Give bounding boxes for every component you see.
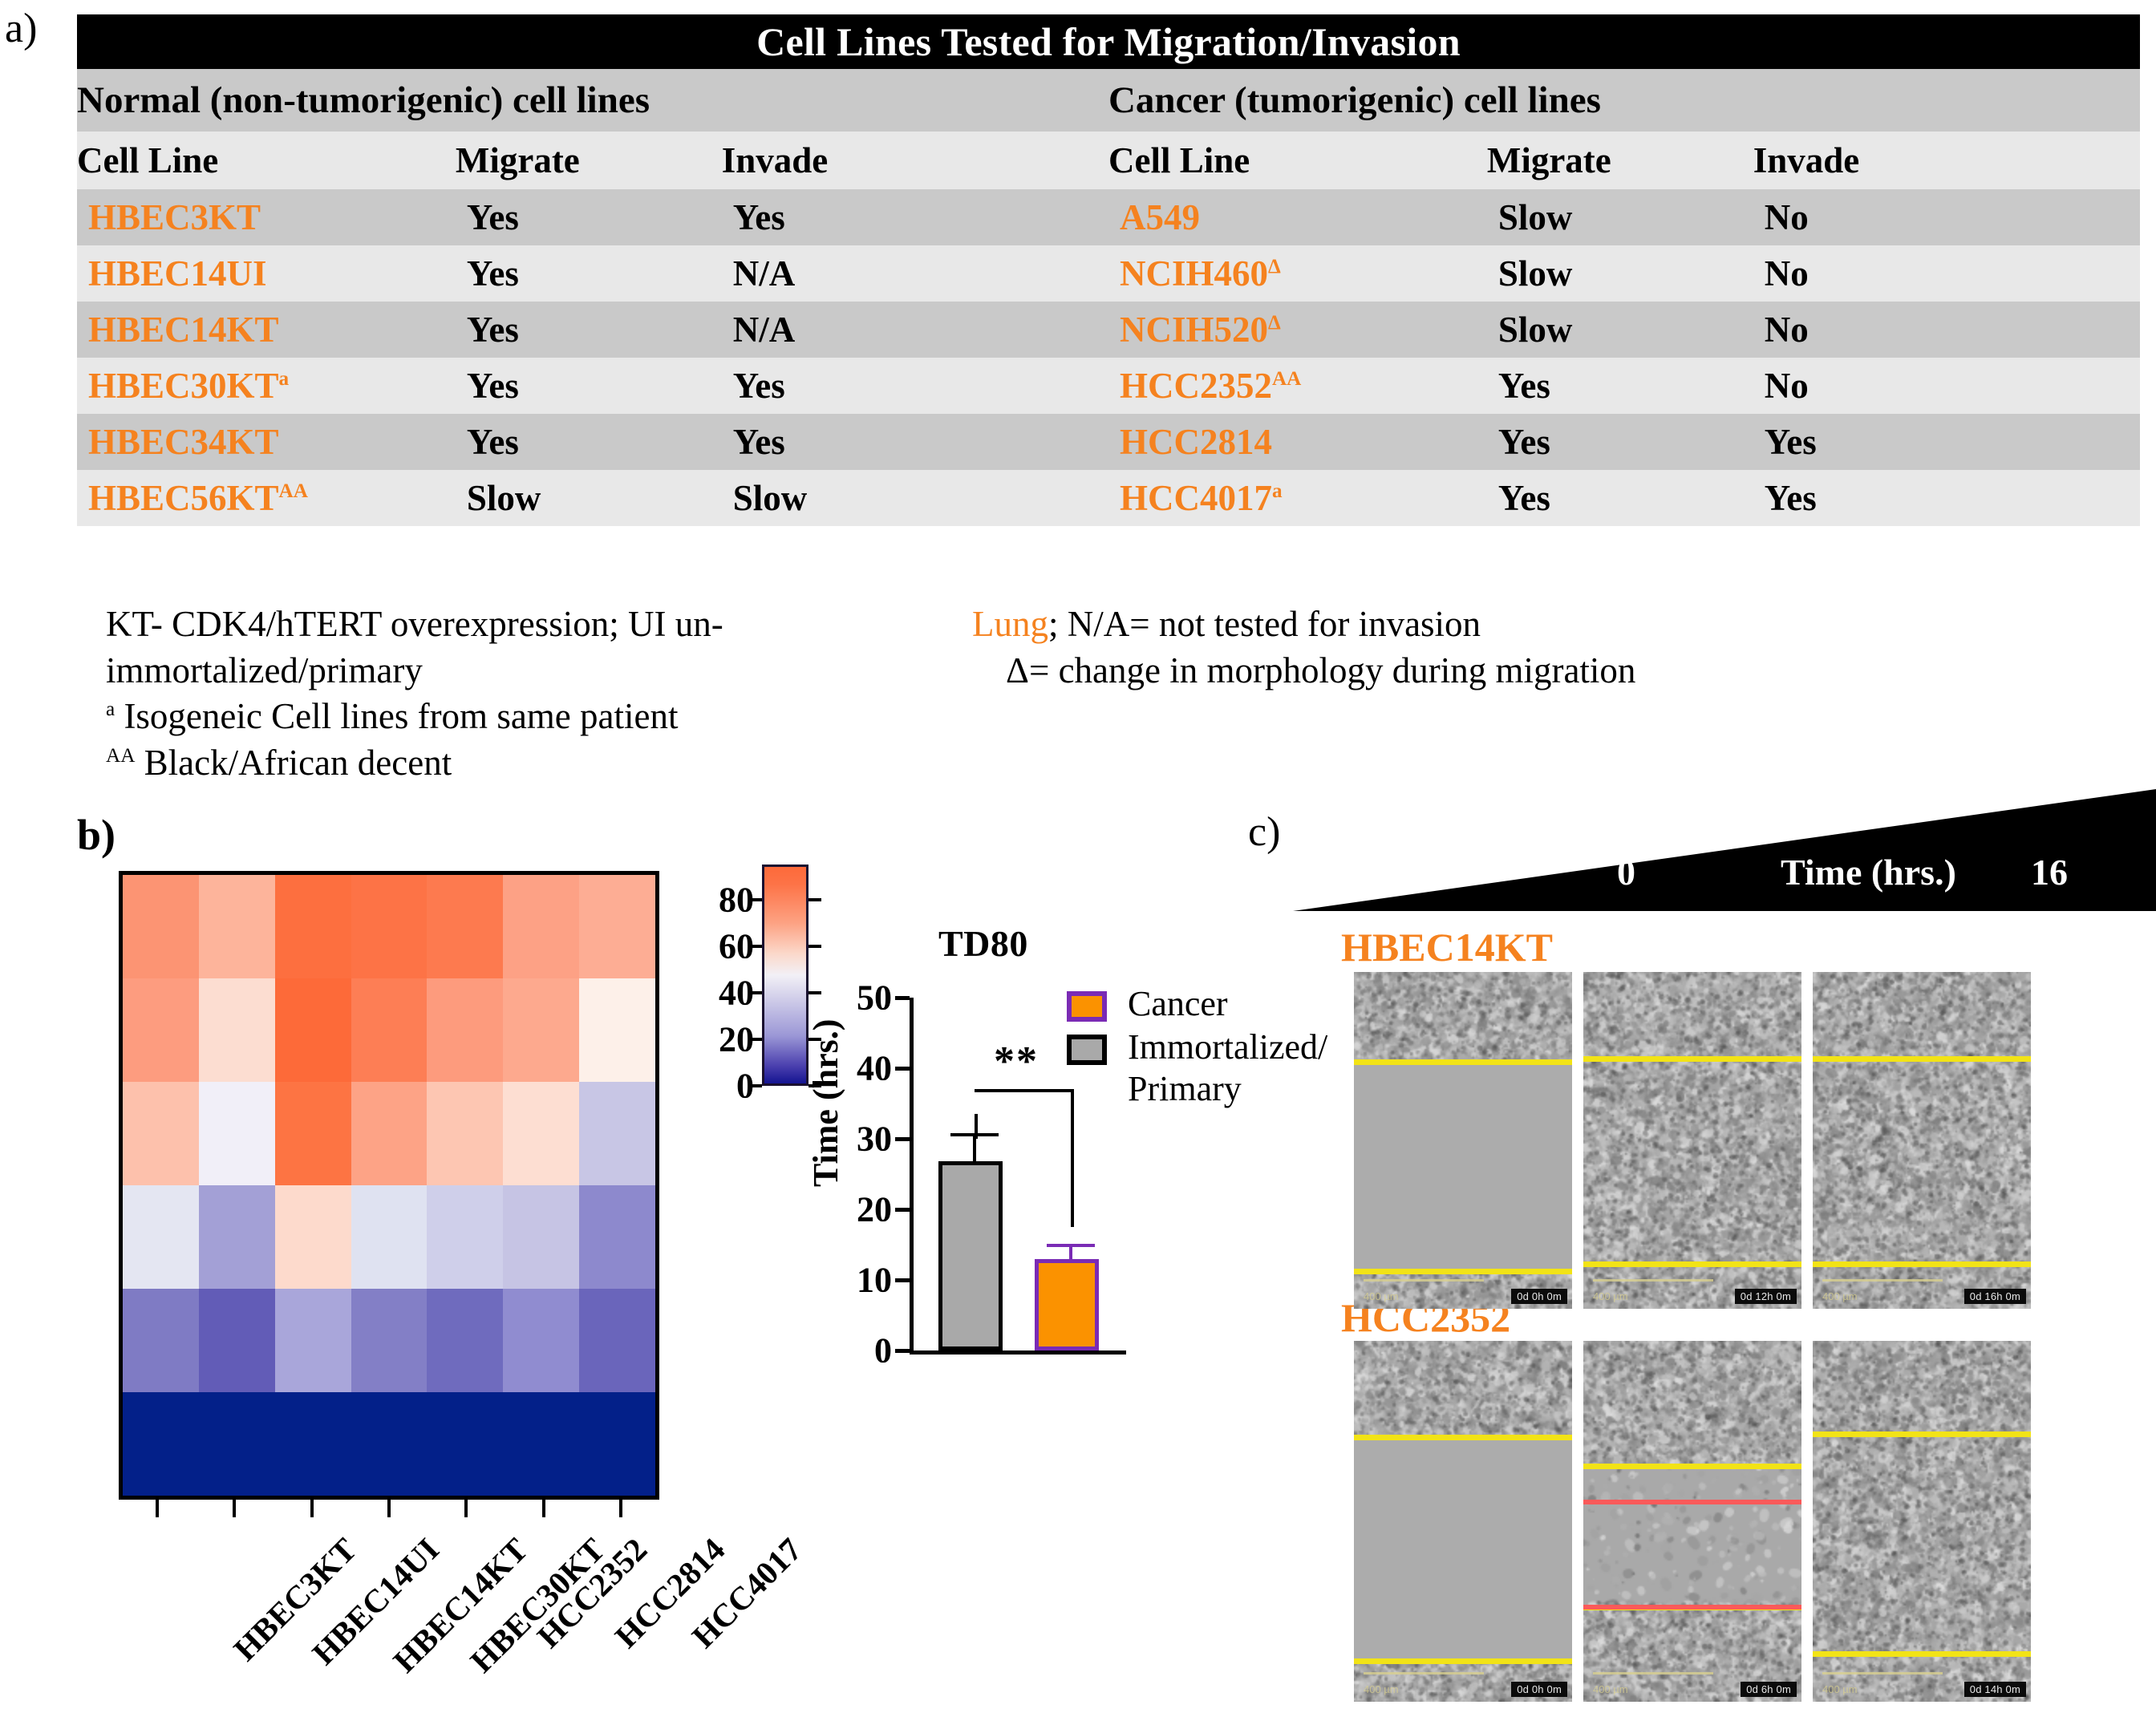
table-column-header-row: Cell Line Migrate Invade Cell Line Migra…: [77, 132, 2140, 189]
cell-invade: N/A: [722, 302, 1108, 358]
micrograph-frame: 400 µm0d 14h 0m: [1813, 1341, 2031, 1702]
significance-stars: **: [994, 1038, 1039, 1085]
heatmap-cell: [427, 978, 503, 1082]
timestamp-badge: 0d 0h 0m: [1511, 1289, 1567, 1304]
wound-edge-trace-yellow: [1583, 1261, 1801, 1267]
cell-invade: Yes: [722, 358, 1108, 414]
timestamp-badge: 0d 14h 0m: [1964, 1682, 2026, 1697]
heatmap-cell: [579, 1289, 655, 1392]
heatmap-cell: [351, 1289, 428, 1392]
heatmap-cell: [579, 875, 655, 978]
cell-line-name: HCC4017a: [1108, 470, 1487, 526]
heatmap-x-tick: [156, 1500, 159, 1517]
heatmap-cell: [275, 1289, 351, 1392]
timestamp-badge: 0d 16h 0m: [1964, 1289, 2026, 1304]
y-tick: [895, 1349, 910, 1353]
table-row: HBEC30KTa Yes Yes HCC2352AA Yes No: [77, 358, 2140, 414]
wound-edge-trace-yellow: [1813, 1056, 2031, 1062]
heatmap-cell: [427, 1082, 503, 1185]
colorbar-gradient: [762, 865, 808, 1086]
significance-bracket-segment: [975, 1114, 978, 1139]
micrograph-frame: 400 µm0d 0h 0m: [1354, 972, 1572, 1309]
cell-migrate: Yes: [456, 302, 722, 358]
td80-y-axis: [910, 998, 914, 1350]
y-tick: [895, 996, 910, 1000]
heatmap-cell: [275, 1082, 351, 1185]
col-header-cellline-left: Cell Line: [77, 132, 456, 189]
panel-c-label: c): [1248, 808, 1280, 856]
heatmap-cell: [351, 1392, 428, 1496]
col-header-migrate-left: Migrate: [456, 132, 722, 189]
heatmap-cell: [351, 978, 428, 1082]
heatmap-cell: [503, 1392, 579, 1496]
y-tick-label: 20: [828, 1189, 892, 1230]
heatmap-cell: [503, 875, 579, 978]
legend-swatch-cancer: [1067, 991, 1107, 1022]
wound-edge-trace-yellow: [1813, 1261, 2031, 1267]
heatmap-cell: [503, 978, 579, 1082]
cell-line-name: A549: [1108, 189, 1487, 245]
colorbar-tick-label: 20: [682, 1018, 754, 1059]
cell-migrate: Yes: [456, 245, 722, 302]
heatmap-cell: [351, 1082, 428, 1185]
table-row: HBEC14UI Yes N/A NCIH460Δ Slow No: [77, 245, 2140, 302]
footnote-lung-na: Lung; N/A= not tested for invasion: [972, 601, 1854, 648]
heatmap-cell: [503, 1289, 579, 1392]
wound-edge-trace-yellow: [1354, 1658, 1572, 1664]
migration-front-trace-red: [1583, 1605, 1801, 1610]
cell-invade: No: [1753, 358, 2140, 414]
heatmap-x-tick: [387, 1500, 391, 1517]
col-header-invade-right: Invade: [1753, 132, 2140, 189]
cell-invade: No: [1753, 189, 2140, 245]
wound-edge-trace-yellow: [1813, 1431, 2031, 1437]
cell-migrate: Slow: [456, 470, 722, 526]
heatmap-x-tick: [542, 1500, 545, 1517]
micrograph-texture: [1813, 1341, 2031, 1702]
legend-label-immortalized: Immortalized/: [1128, 1027, 1327, 1067]
cell-migrate: Slow: [1487, 302, 1753, 358]
cell-line-name: HBEC14UI: [77, 245, 456, 302]
micrograph-frame: 400 µm0d 12h 0m: [1583, 972, 1801, 1309]
micrograph-frame: 400 µm0d 0h 0m: [1354, 1341, 1572, 1702]
heatmap-x-tick: [619, 1500, 622, 1517]
heatmap-cell: [503, 1185, 579, 1289]
heatmap-x-tick: [233, 1500, 236, 1517]
footnotes-right: Lung; N/A= not tested for invasion Δ= ch…: [972, 601, 1854, 694]
footnote-kt-ui: KT- CDK4/hTERT overexpression; UI un-imm…: [106, 601, 972, 694]
wound-edge-trace-yellow: [1354, 1269, 1572, 1274]
td80-legend: Cancer Immortalized/ Primary: [1067, 986, 1331, 1073]
table-row: HBEC14KT Yes N/A NCIH520Δ Slow No: [77, 302, 2140, 358]
col-header-invade-left: Invade: [722, 132, 1108, 189]
heatmap-x-ticks: [119, 1500, 659, 1517]
timestamp-badge: 0d 12h 0m: [1735, 1289, 1797, 1304]
scale-bar: [1822, 1672, 1943, 1674]
footnote-delta-morphology: Δ= change in morphology during migration: [972, 648, 1854, 694]
cell-lines-table-panel: Cell Lines Tested for Migration/Invasion…: [77, 14, 2140, 526]
wound-gap-area: [1354, 1435, 1572, 1658]
y-tick-label: 10: [828, 1260, 892, 1301]
heatmap-cell: [503, 1082, 579, 1185]
y-tick: [895, 1278, 910, 1282]
heatmap-cell: [351, 1185, 428, 1289]
group-header-normal: Normal (non-tumorigenic) cell lines: [77, 69, 1108, 132]
legend-label-immortalized-line2: Primary: [1128, 1068, 1242, 1109]
heatmap-cell: [199, 1185, 275, 1289]
y-tick: [895, 1067, 910, 1071]
timestamp-badge: 0d 6h 0m: [1741, 1682, 1797, 1697]
panel-b-label: b): [77, 810, 115, 860]
time-axis-label: Time (hrs.): [1781, 851, 1956, 893]
cell-line-name: HBEC30KTa: [77, 358, 456, 414]
wound-edge-trace-yellow: [1813, 1651, 2031, 1657]
significance-bracket-segment: [975, 1089, 1074, 1092]
heatmap-x-tick: [464, 1500, 468, 1517]
cell-migrate: Yes: [1487, 358, 1753, 414]
heatmap-cell: [427, 1392, 503, 1496]
y-tick-label: 0: [828, 1330, 892, 1371]
heatmap-cell: [199, 875, 275, 978]
legend-item-immortalized: Immortalized/ Primary: [1067, 1030, 1331, 1073]
group-header-cancer: Cancer (tumorigenic) cell lines: [1108, 69, 2140, 132]
heatmap-cell: [199, 1392, 275, 1496]
cell-migrate: Yes: [456, 414, 722, 470]
significance-bracket-segment: [1071, 1089, 1074, 1227]
cell-migrate: Yes: [1487, 414, 1753, 470]
cell-migrate: Yes: [456, 358, 722, 414]
heatmap-cell: [275, 875, 351, 978]
y-tick-label: 50: [828, 978, 892, 1018]
scale-bar: [1364, 1279, 1484, 1282]
col-header-cellline-right: Cell Line: [1108, 132, 1487, 189]
wedge-shape: [1293, 789, 2156, 911]
table-row: HBEC3KT Yes Yes A549 Slow No: [77, 189, 2140, 245]
heatmap-cell: [199, 978, 275, 1082]
table-group-row: Normal (non-tumorigenic) cell lines Canc…: [77, 69, 2140, 132]
wound-edge-trace-yellow: [1354, 1059, 1572, 1065]
footnote-isogeneic: a Isogeneic Cell lines from same patient: [106, 694, 972, 740]
table-row: HBEC34KT Yes Yes HCC2814 Yes Yes: [77, 414, 2140, 470]
error-bar-cap: [1047, 1244, 1095, 1247]
td80-x-axis: [910, 1350, 1126, 1355]
footnote-african-descent: AA Black/African decent: [106, 740, 972, 787]
cell-migrate: Slow: [1487, 189, 1753, 245]
cell-migrate: Yes: [1487, 470, 1753, 526]
td80-title: TD80: [938, 922, 1028, 965]
heatmap-cell: [579, 978, 655, 1082]
cell-line-name: HCC2352AA: [1108, 358, 1487, 414]
panel-a-label: a): [5, 5, 37, 52]
wound-gap-area: [1354, 1059, 1572, 1268]
cell-line-name: HBEC34KT: [77, 414, 456, 470]
scale-bar: [1593, 1279, 1713, 1282]
bar-cancer: [1035, 1259, 1099, 1350]
heatmap-cell: [351, 875, 428, 978]
migration-front-trace-red: [1583, 1500, 1801, 1504]
cell-line-name: HCC2814: [1108, 414, 1487, 470]
heatmap-cell: [123, 1392, 199, 1496]
heatmap-grid: [119, 871, 659, 1500]
micrograph-texture: [1583, 1341, 1801, 1702]
micrograph-row-title-hbec14kt: HBEC14KT: [1341, 924, 1553, 970]
cell-invade: Yes: [722, 414, 1108, 470]
y-tick-label: 40: [828, 1048, 892, 1089]
scale-bar: [1364, 1672, 1484, 1674]
y-tick: [895, 1208, 910, 1212]
heatmap-cell: [579, 1082, 655, 1185]
heatmap-cell: [199, 1289, 275, 1392]
heatmap: [119, 871, 659, 1500]
y-tick-label: 30: [828, 1119, 892, 1160]
time-start-label: 0: [1617, 851, 1635, 893]
legend-swatch-immortalized: [1067, 1035, 1107, 1065]
table-title: Cell Lines Tested for Migration/Invasion: [77, 14, 2140, 69]
scale-bar: [1593, 1672, 1713, 1674]
time-end-label: 16: [2031, 851, 2068, 893]
wound-edge-trace-yellow: [1583, 1056, 1801, 1062]
cell-invade: Slow: [722, 470, 1108, 526]
timestamp-badge: 0d 0h 0m: [1511, 1682, 1567, 1697]
heatmap-cell: [123, 1082, 199, 1185]
heatmap-x-axis-labels: HBEC3KTHBEC14UIHBEC14KTHBEC30KTHCC2352HC…: [119, 1516, 696, 1708]
heatmap-cell: [123, 1185, 199, 1289]
td80-y-axis-label: Time (hrs.): [805, 1019, 846, 1187]
micrograph-frame: 400 µm0d 16h 0m: [1813, 972, 2031, 1309]
time-gradient-wedge: 0 Time (hrs.) 16: [1293, 789, 2156, 911]
heatmap-cell: [579, 1185, 655, 1289]
bar-immortalized-primary: [938, 1161, 1003, 1350]
footnotes-left: KT- CDK4/hTERT overexpression; UI un-imm…: [106, 601, 972, 786]
cell-migrate: Slow: [1487, 245, 1753, 302]
y-tick: [895, 1137, 910, 1141]
heatmap-cell: [427, 1289, 503, 1392]
cell-line-name: HBEC14KT: [77, 302, 456, 358]
table-row: HBEC56KTAA Slow Slow HCC4017a Yes Yes: [77, 470, 2140, 526]
heatmap-cell: [427, 1185, 503, 1289]
colorbar-tick-label: 80: [682, 879, 754, 920]
td80-bar-chart: TD80 Time (hrs.) 01020304050** Cancer Im…: [810, 922, 1155, 1436]
cell-invade: Yes: [722, 189, 1108, 245]
cell-line-name: NCIH460Δ: [1108, 245, 1487, 302]
col-header-migrate-right: Migrate: [1487, 132, 1753, 189]
colorbar-tick: [808, 898, 821, 901]
cell-invade: N/A: [722, 245, 1108, 302]
micrograph-frame: 400 µm0d 6h 0m: [1583, 1341, 1801, 1702]
cell-invade: No: [1753, 302, 2140, 358]
legend-label-cancer: Cancer: [1128, 983, 1228, 1024]
cell-lines-table: Cell Lines Tested for Migration/Invasion…: [77, 14, 2140, 526]
scale-bar-label: 400 µm: [1822, 1683, 1858, 1695]
heatmap-cell: [123, 1289, 199, 1392]
heatmap-cell: [275, 978, 351, 1082]
heatmap-cell: [579, 1392, 655, 1496]
heatmap-cell: [427, 875, 503, 978]
table-title-row: Cell Lines Tested for Migration/Invasion: [77, 14, 2140, 69]
heatmap-cell: [123, 875, 199, 978]
cell-migrate: Yes: [456, 189, 722, 245]
heatmap-x-tick: [310, 1500, 314, 1517]
cell-invade: Yes: [1753, 414, 2140, 470]
cell-invade: No: [1753, 245, 2140, 302]
scale-bar-label: 400 µm: [1593, 1683, 1628, 1695]
heatmap-cell: [275, 1392, 351, 1496]
scale-bar-label: 400 µm: [1364, 1683, 1399, 1695]
heatmap-cell: [199, 1082, 275, 1185]
scale-bar-label: 400 µm: [1822, 1290, 1858, 1302]
colorbar-tick-label: 40: [682, 972, 754, 1013]
scale-bar-label: 400 µm: [1364, 1290, 1399, 1302]
cell-line-name: NCIH520Δ: [1108, 302, 1487, 358]
scale-bar: [1822, 1279, 1943, 1282]
legend-item-cancer: Cancer: [1067, 986, 1331, 1030]
heatmap-cell: [123, 978, 199, 1082]
colorbar-tick-label: 60: [682, 925, 754, 966]
wound-edge-trace-yellow: [1583, 1464, 1801, 1469]
micrograph-texture: [1583, 972, 1801, 1309]
colorbar-tick-label: 0: [682, 1066, 754, 1107]
wound-edge-trace-yellow: [1354, 1435, 1572, 1440]
cell-line-name: HBEC56KTAA: [77, 470, 456, 526]
cell-invade: Yes: [1753, 470, 2140, 526]
scale-bar-label: 400 µm: [1593, 1290, 1628, 1302]
micrograph-texture: [1813, 972, 2031, 1309]
heatmap-cell: [275, 1185, 351, 1289]
cell-line-name: HBEC3KT: [77, 189, 456, 245]
